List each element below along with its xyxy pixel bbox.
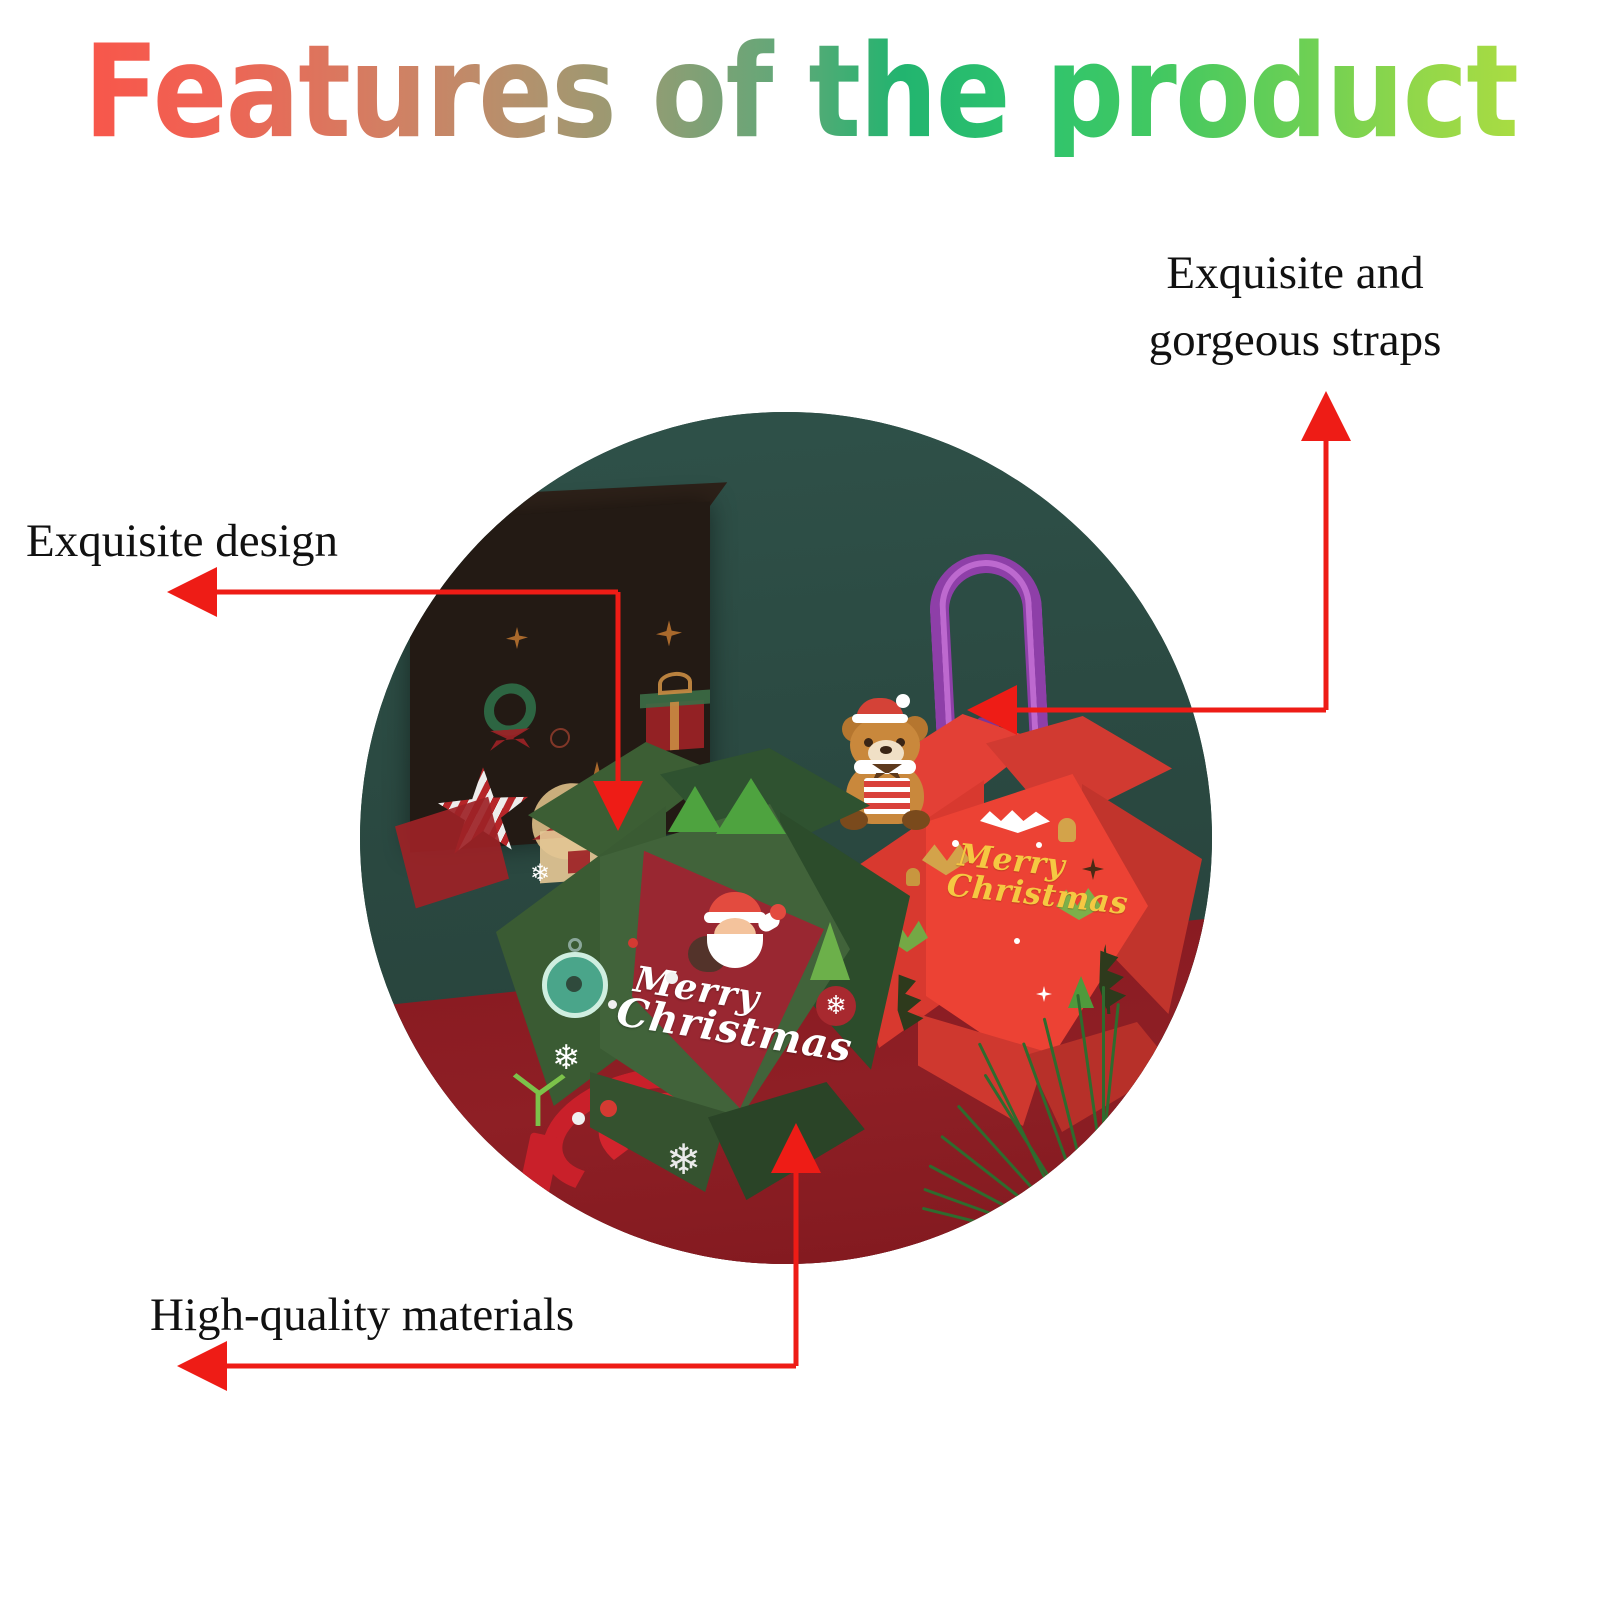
ornament-hook — [568, 938, 582, 952]
dot — [1014, 938, 1020, 944]
purple-ribbon-highlight — [937, 558, 1038, 745]
annotation-label-gorgeous-straps: Exquisite and gorgeous straps — [1100, 240, 1490, 373]
dot — [628, 938, 638, 948]
dot — [608, 1000, 617, 1009]
santa-claus-icon — [694, 892, 780, 972]
gift-bow-icon — [658, 671, 692, 695]
four-point-star-icon — [506, 626, 528, 650]
dot — [572, 1112, 585, 1125]
bell-icon — [1058, 818, 1076, 842]
bell-icon — [906, 868, 920, 886]
label-line-1: Exquisite and — [1100, 240, 1490, 307]
page-title: Features of the product — [83, 29, 1516, 157]
dot — [666, 972, 678, 984]
dot — [600, 1100, 617, 1117]
product-photo-circle: Merry Christmas — [360, 412, 1212, 1264]
pine-needle-sprig — [956, 972, 1212, 1262]
four-point-star-icon — [656, 619, 682, 647]
label-line-2: gorgeous straps — [1100, 307, 1490, 374]
green-faceted-gift-box: Merry Christmas ❄ ❄ ❄ ❄ — [480, 742, 900, 1212]
dot — [952, 840, 959, 847]
page-title-banner: Features of the product — [0, 18, 1600, 168]
snowflake-icon: ❄ — [530, 862, 550, 886]
snowflake-icon: ❄ — [666, 1140, 701, 1182]
snowflake-icon: ❄ — [552, 1042, 581, 1076]
annotation-label-exquisite-design: Exquisite design — [26, 508, 338, 575]
ornament-core — [566, 976, 582, 992]
snowflake-badge-icon: ❄ — [816, 986, 856, 1026]
infographic-stage: Features of the product — [0, 0, 1600, 1600]
annotation-label-high-quality-materials: High-quality materials — [150, 1282, 574, 1349]
